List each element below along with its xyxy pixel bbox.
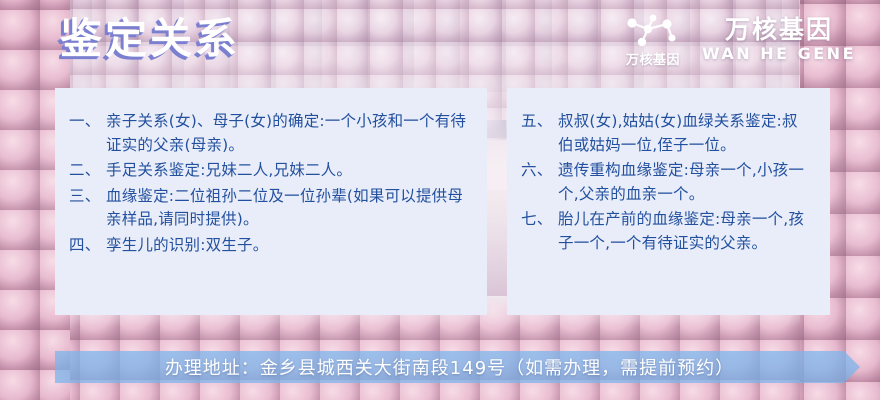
brand-logo: 万核基因 万核基因 WAN HE GENE xyxy=(616,14,856,66)
logo-name-en: WAN HE GENE xyxy=(702,46,856,63)
logo-name-cn: 万核基因 xyxy=(725,17,833,43)
list-item-text: 遗传重构血缘鉴定:母亲一个,小孩一个,父亲的血亲一个。 xyxy=(558,159,812,206)
list-item-text: 胎儿在产前的血缘鉴定:母亲一个,孩子一个,一个有待证实的父亲。 xyxy=(558,208,812,255)
content-panels: 一、 亲子关系(女)、母子(女)的确定:一个小孩和一个有待证实的父亲(母亲)。 … xyxy=(55,88,830,315)
list-item-number: 五、 xyxy=(521,110,558,134)
list-item-text: 叔叔(女),姑姑(女)血绿关系鉴定:叔伯或姑妈一位,侄子一位。 xyxy=(558,110,812,157)
list-item-text: 孪生儿的识别:双生子。 xyxy=(106,234,469,258)
panel-left: 一、 亲子关系(女)、母子(女)的确定:一个小孩和一个有待证实的父亲(母亲)。 … xyxy=(55,88,487,315)
logo-mark: 万核基因 xyxy=(616,14,690,66)
list-item-text: 血缘鉴定:二位祖孙二位及一位孙辈(如果可以提供母亲样品,请同时提供)。 xyxy=(106,185,469,232)
list-item-number: 六、 xyxy=(521,159,558,183)
list-item-number: 一、 xyxy=(69,110,106,134)
logo-mark-label: 万核基因 xyxy=(626,49,680,68)
list-item-number: 二、 xyxy=(69,159,106,183)
list-item-number: 三、 xyxy=(69,185,106,209)
footer-address-text: 办理地址：金乡县城西关大街南段149号（如需办理，需提前预约） xyxy=(55,351,860,383)
list-item: 三、 血缘鉴定:二位祖孙二位及一位孙辈(如果可以提供母亲样品,请同时提供)。 xyxy=(69,185,469,232)
logo-wordmark: 万核基因 WAN HE GENE xyxy=(702,17,856,63)
footer-banner: 办理地址：金乡县城西关大街南段149号（如需办理，需提前预约） xyxy=(55,351,860,383)
list-item-text: 亲子关系(女)、母子(女)的确定:一个小孩和一个有待证实的父亲(母亲)。 xyxy=(106,110,469,157)
poster-root: 鉴定关系 xyxy=(0,0,880,400)
list-item-number: 七、 xyxy=(521,208,558,232)
list-item: 二、 手足关系鉴定:兄妹二人,兄妹二人。 xyxy=(69,159,469,183)
list-item-number: 四、 xyxy=(69,234,106,258)
molecule-icon xyxy=(623,14,683,48)
page-title: 鉴定关系 xyxy=(60,18,240,60)
list-item-text: 手足关系鉴定:兄妹二人,兄妹二人。 xyxy=(106,159,469,183)
panel-right: 五、 叔叔(女),姑姑(女)血绿关系鉴定:叔伯或姑妈一位,侄子一位。 六、 遗传… xyxy=(507,88,830,315)
list-item: 四、 孪生儿的识别:双生子。 xyxy=(69,234,469,258)
list-item: 六、 遗传重构血缘鉴定:母亲一个,小孩一个,父亲的血亲一个。 xyxy=(521,159,812,206)
list-item: 五、 叔叔(女),姑姑(女)血绿关系鉴定:叔伯或姑妈一位,侄子一位。 xyxy=(521,110,812,157)
list-item: 七、 胎儿在产前的血缘鉴定:母亲一个,孩子一个,一个有待证实的父亲。 xyxy=(521,208,812,255)
list-item: 一、 亲子关系(女)、母子(女)的确定:一个小孩和一个有待证实的父亲(母亲)。 xyxy=(69,110,469,157)
